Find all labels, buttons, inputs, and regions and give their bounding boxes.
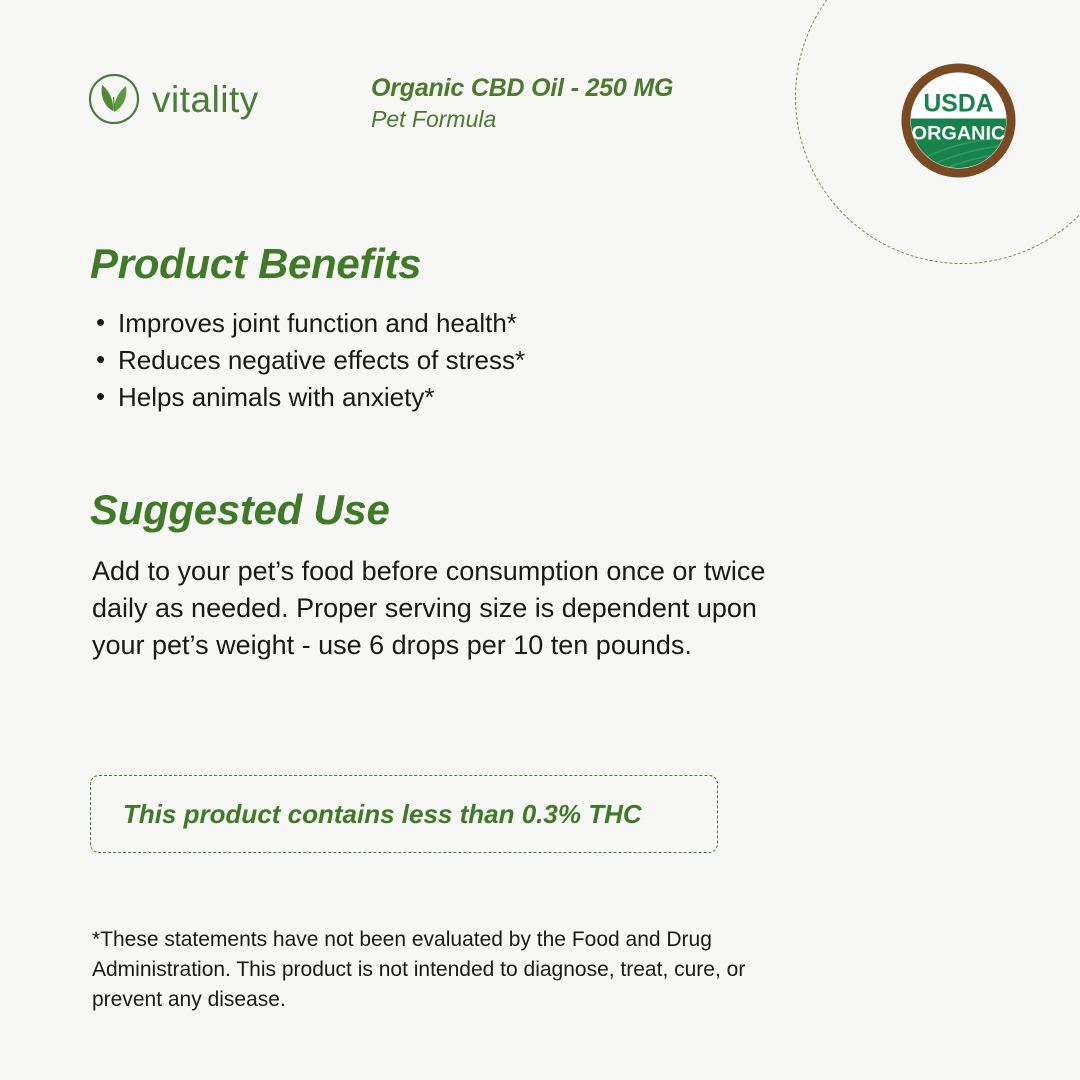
product-info-panel: vitality Organic CBD Oil - 250 MG Pet Fo…	[0, 0, 1080, 1080]
usda-badge-top-text: USDA	[923, 91, 993, 118]
suggested-use-text: Add to your pet’s food before consumptio…	[92, 553, 782, 664]
product-subtitle: Pet Formula	[371, 106, 673, 133]
usda-organic-seal-icon: USDA ORGANIC	[899, 61, 1018, 180]
list-item: Helps animals with anxiety*	[92, 379, 525, 416]
list-item: Reduces negative effects of stress*	[92, 342, 525, 379]
vitality-leaf-circle-icon	[88, 73, 140, 125]
usda-badge-bottom-text: ORGANIC	[912, 122, 1006, 144]
thc-callout-text: This product contains less than 0.3% THC	[91, 799, 642, 830]
product-title-block: Organic CBD Oil - 250 MG Pet Formula	[371, 74, 673, 133]
fda-disclaimer-footnote: *These statements have not been evaluate…	[92, 925, 782, 1015]
product-title: Organic CBD Oil - 250 MG	[371, 74, 673, 104]
thc-callout-box: This product contains less than 0.3% THC	[90, 775, 718, 853]
product-benefits-heading: Product Benefits	[90, 240, 421, 288]
list-item: Improves joint function and health*	[92, 305, 525, 342]
suggested-use-heading: Suggested Use	[90, 486, 390, 534]
brand-name: vitality	[152, 81, 259, 118]
brand-logo: vitality	[88, 73, 259, 125]
header: vitality Organic CBD Oil - 250 MG Pet Fo…	[0, 0, 1080, 200]
product-benefits-list: Improves joint function and health* Redu…	[92, 305, 525, 416]
